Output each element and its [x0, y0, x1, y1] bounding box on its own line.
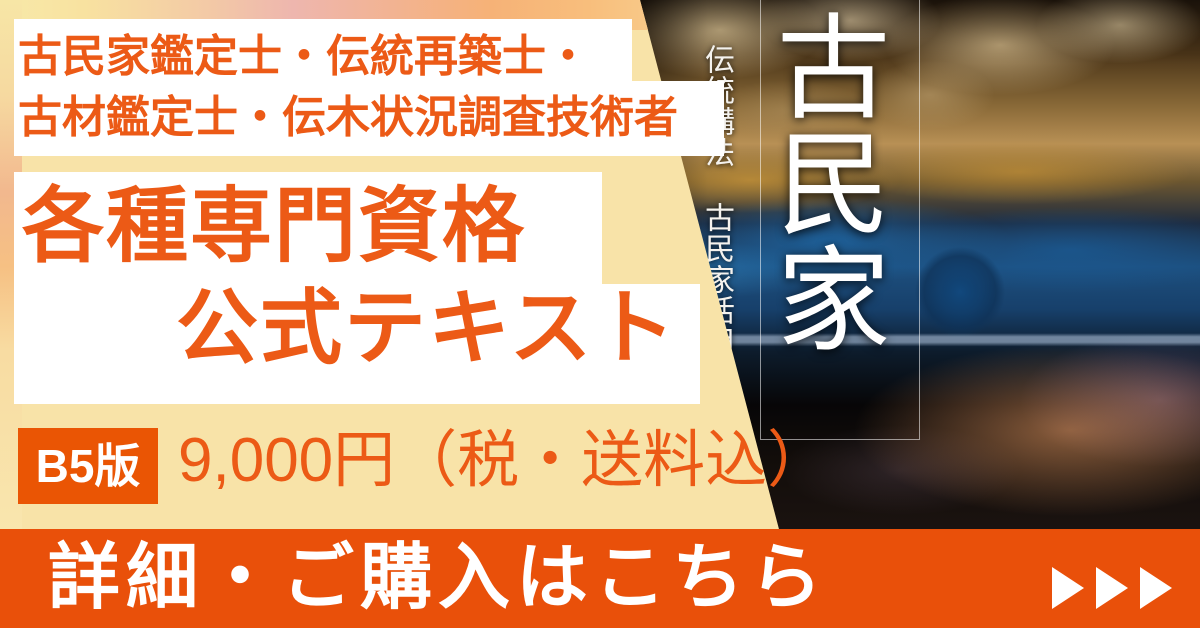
headline-line-1: 各種専門資格 — [22, 186, 526, 268]
cta-bar[interactable]: 詳細・ご購入はこちら — [0, 529, 1200, 628]
triangle-right-icon — [1052, 567, 1084, 609]
price-text: 9,000円（税・送料込） — [178, 430, 829, 492]
promo-banner: 伝統構法 古民家活用のための調査と再生の 古民家 古民家鑑定士・伝統再築士・ 古… — [0, 0, 1200, 628]
format-badge-label: B5版 — [36, 443, 141, 489]
triangle-right-icon — [1096, 567, 1128, 609]
format-badge: B5版 — [18, 428, 158, 504]
qualifications-text: 古民家鑑定士・伝統再築士・ 古材鑑定士・伝木状況調査技術者 — [18, 27, 718, 148]
book-cover-title: 古民家 — [782, 8, 898, 356]
headline-line-2: 公式テキスト — [176, 288, 678, 370]
cta-label: 詳細・ご購入はこちら — [48, 538, 828, 619]
cta-arrow-group — [1052, 567, 1172, 609]
triangle-right-icon — [1140, 567, 1172, 609]
